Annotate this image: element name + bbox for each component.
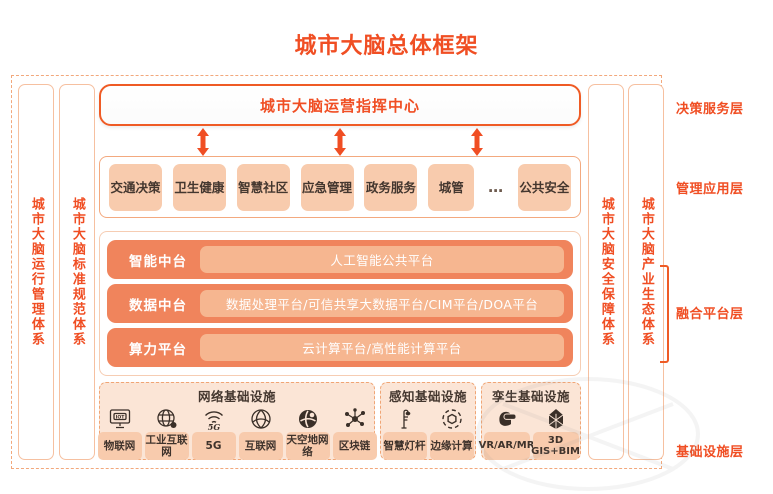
diagram-canvas: 城市大脑总体框架 城市大脑运行管理体系 城市大脑标准规范体系 城市大脑安全保障体… xyxy=(0,0,773,494)
app-cell-traffic[interactable]: 交通决策 xyxy=(109,164,162,211)
layer-label-platform: 融合平台层 xyxy=(676,303,744,322)
3d-building-icon xyxy=(544,406,568,432)
pillar-label: 城市大脑安全保障体系 xyxy=(599,197,613,347)
infrastructure-row: 网络基础设施 IOT 物联网 xyxy=(99,382,581,460)
globe-gear-icon xyxy=(155,406,179,432)
pillar-standards-norms: 城市大脑标准规范体系 xyxy=(59,84,95,460)
infra-item-internet[interactable]: 互联网 xyxy=(239,406,283,460)
applications-container: 交通决策 卫生健康 智慧社区 应急管理 政务服务 城管 … 公共安全 xyxy=(99,156,581,218)
blockchain-nodes-icon xyxy=(343,406,367,432)
smart-lamp-post-icon xyxy=(393,406,417,432)
infra-item-blockchain[interactable]: 区块链 xyxy=(333,406,377,460)
pillar-operation-management: 城市大脑运行管理体系 xyxy=(18,84,54,460)
platform-name: 算力平台 xyxy=(116,338,200,358)
svg-text:5G: 5G xyxy=(207,422,220,431)
infra-section-sensing: 感知基础设施 智慧灯杆 xyxy=(380,382,476,460)
edge-computing-icon xyxy=(440,406,464,432)
double-arrow-icon xyxy=(196,128,210,156)
infra-section-title: 网络基础设施 xyxy=(198,386,276,405)
infra-item-label: 智慧灯杆 xyxy=(383,432,427,460)
double-arrow-icon xyxy=(470,128,484,156)
layer-label-decision: 决策服务层 xyxy=(676,98,744,117)
infra-item-5g[interactable]: 5G 5G xyxy=(192,406,236,460)
infra-item-industrial-internet[interactable]: 工业互联网 xyxy=(145,406,189,460)
platform-desc: 数据处理平台/可信共享大数据平台/CIM平台/DOA平台 xyxy=(200,290,564,317)
infra-items: IOT 物联网 xyxy=(98,406,377,460)
app-cell-community[interactable]: 智慧社区 xyxy=(237,164,290,211)
app-cell-government[interactable]: 政务服务 xyxy=(364,164,417,211)
command-center-label: 城市大脑运营指挥中心 xyxy=(260,95,420,116)
platform-desc: 人工智能公共平台 xyxy=(200,246,564,273)
infra-item-label: 3D GIS+BIM xyxy=(533,432,579,460)
double-arrow-icon xyxy=(333,128,347,156)
infra-item-edge-computing[interactable]: 边缘计算 xyxy=(430,406,474,460)
infra-item-smart-lamp-post[interactable]: 智慧灯杆 xyxy=(383,406,427,460)
infra-item-label: 区块链 xyxy=(333,432,377,460)
pillar-security-assurance: 城市大脑安全保障体系 xyxy=(588,84,624,460)
iot-monitor-icon: IOT xyxy=(108,406,132,432)
infra-section-title: 感知基础设施 xyxy=(389,386,467,405)
pillar-label: 城市大脑标准规范体系 xyxy=(70,197,84,347)
platform-bar-data: 数据中台 数据处理平台/可信共享大数据平台/CIM平台/DOA平台 xyxy=(107,284,573,323)
satellite-globe-icon xyxy=(296,406,320,432)
infra-item-space-air-ground[interactable]: 天空地网络 xyxy=(286,406,330,460)
infra-section-network: 网络基础设施 IOT 物联网 xyxy=(99,382,375,460)
page-title: 城市大脑总体框架 xyxy=(0,28,773,60)
infra-item-vr-ar-mr[interactable]: VR/AR/MR xyxy=(484,406,530,460)
platform-name: 智能中台 xyxy=(116,250,200,270)
platform-name: 数据中台 xyxy=(116,294,200,314)
platform-desc: 云计算平台/高性能计算平台 xyxy=(200,334,564,361)
infra-section-digital-twin: 孪生基础设施 VR/AR/MR xyxy=(481,382,581,460)
infra-items: 智慧灯杆 边缘计算 xyxy=(383,406,474,460)
infra-item-iot[interactable]: IOT 物联网 xyxy=(98,406,142,460)
app-cell-public-safety[interactable]: 公共安全 xyxy=(518,164,571,211)
layer-bracket-marker xyxy=(660,265,669,363)
globe-icon xyxy=(249,406,273,432)
infra-item-label: 天空地网络 xyxy=(286,432,330,460)
platform-bar-compute: 算力平台 云计算平台/高性能计算平台 xyxy=(107,328,573,367)
infra-section-title: 孪生基础设施 xyxy=(492,386,570,405)
platform-bar-ai: 智能中台 人工智能公共平台 xyxy=(107,240,573,279)
infra-item-label: 5G xyxy=(192,432,236,460)
layer-label-application: 管理应用层 xyxy=(676,178,744,197)
layer-label-infrastructure: 基础设施层 xyxy=(676,441,744,460)
vr-headset-icon xyxy=(495,406,519,432)
infra-items: VR/AR/MR 3D GIS+BIM xyxy=(484,406,579,460)
pillar-label: 城市大脑运行管理体系 xyxy=(29,197,43,347)
infra-item-label: 物联网 xyxy=(98,432,142,460)
wifi-5g-icon: 5G xyxy=(202,406,226,432)
app-cell-health[interactable]: 卫生健康 xyxy=(173,164,226,211)
infra-item-3d-gis-bim[interactable]: 3D GIS+BIM xyxy=(533,406,579,460)
app-cell-urban-mgmt[interactable]: 城管 xyxy=(428,164,474,211)
platform-group-container: 智能中台 人工智能公共平台 数据中台 数据处理平台/可信共享大数据平台/CIM平… xyxy=(99,231,581,376)
app-cell-emergency[interactable]: 应急管理 xyxy=(301,164,354,211)
pillar-industry-ecosystem: 城市大脑产业生态体系 xyxy=(628,84,664,460)
framework-center-column: 城市大脑运营指挥中心 交通决策 卫生健康 智慧社区 应急管理 政务服务 城管 …… xyxy=(99,84,581,460)
connector-arrows-row xyxy=(99,128,581,156)
command-center-box: 城市大脑运营指挥中心 xyxy=(99,84,581,126)
app-more-ellipsis: … xyxy=(485,178,507,196)
infra-item-label: 边缘计算 xyxy=(430,432,474,460)
pillar-label: 城市大脑产业生态体系 xyxy=(639,197,653,347)
infra-item-label: VR/AR/MR xyxy=(484,432,530,460)
svg-text:IOT: IOT xyxy=(115,415,125,421)
infra-item-label: 互联网 xyxy=(239,432,283,460)
infra-item-label: 工业互联网 xyxy=(145,432,189,460)
